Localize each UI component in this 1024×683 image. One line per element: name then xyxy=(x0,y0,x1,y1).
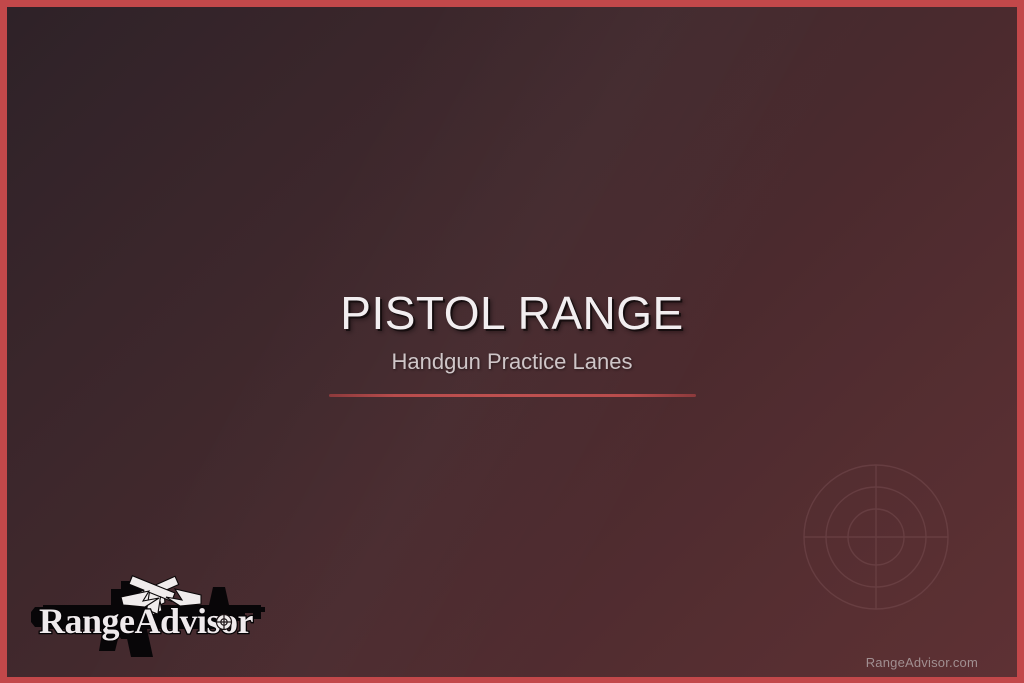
title-block: PISTOL RANGE Handgun Practice Lanes xyxy=(7,290,1017,397)
page-title: PISTOL RANGE xyxy=(7,290,1017,336)
page-subtitle: Handgun Practice Lanes xyxy=(7,351,1017,373)
presentation-slide: PISTOL RANGE Handgun Practice Lanes xyxy=(0,0,1024,683)
title-divider xyxy=(329,394,696,397)
scope-reticle-icon xyxy=(216,614,232,630)
brand-logo: RangeAdvisor xyxy=(25,567,275,659)
slide-canvas: PISTOL RANGE Handgun Practice Lanes xyxy=(7,7,1017,677)
footer-website: RangeAdvisor.com xyxy=(866,655,978,670)
crosshair-target-icon xyxy=(796,457,956,617)
